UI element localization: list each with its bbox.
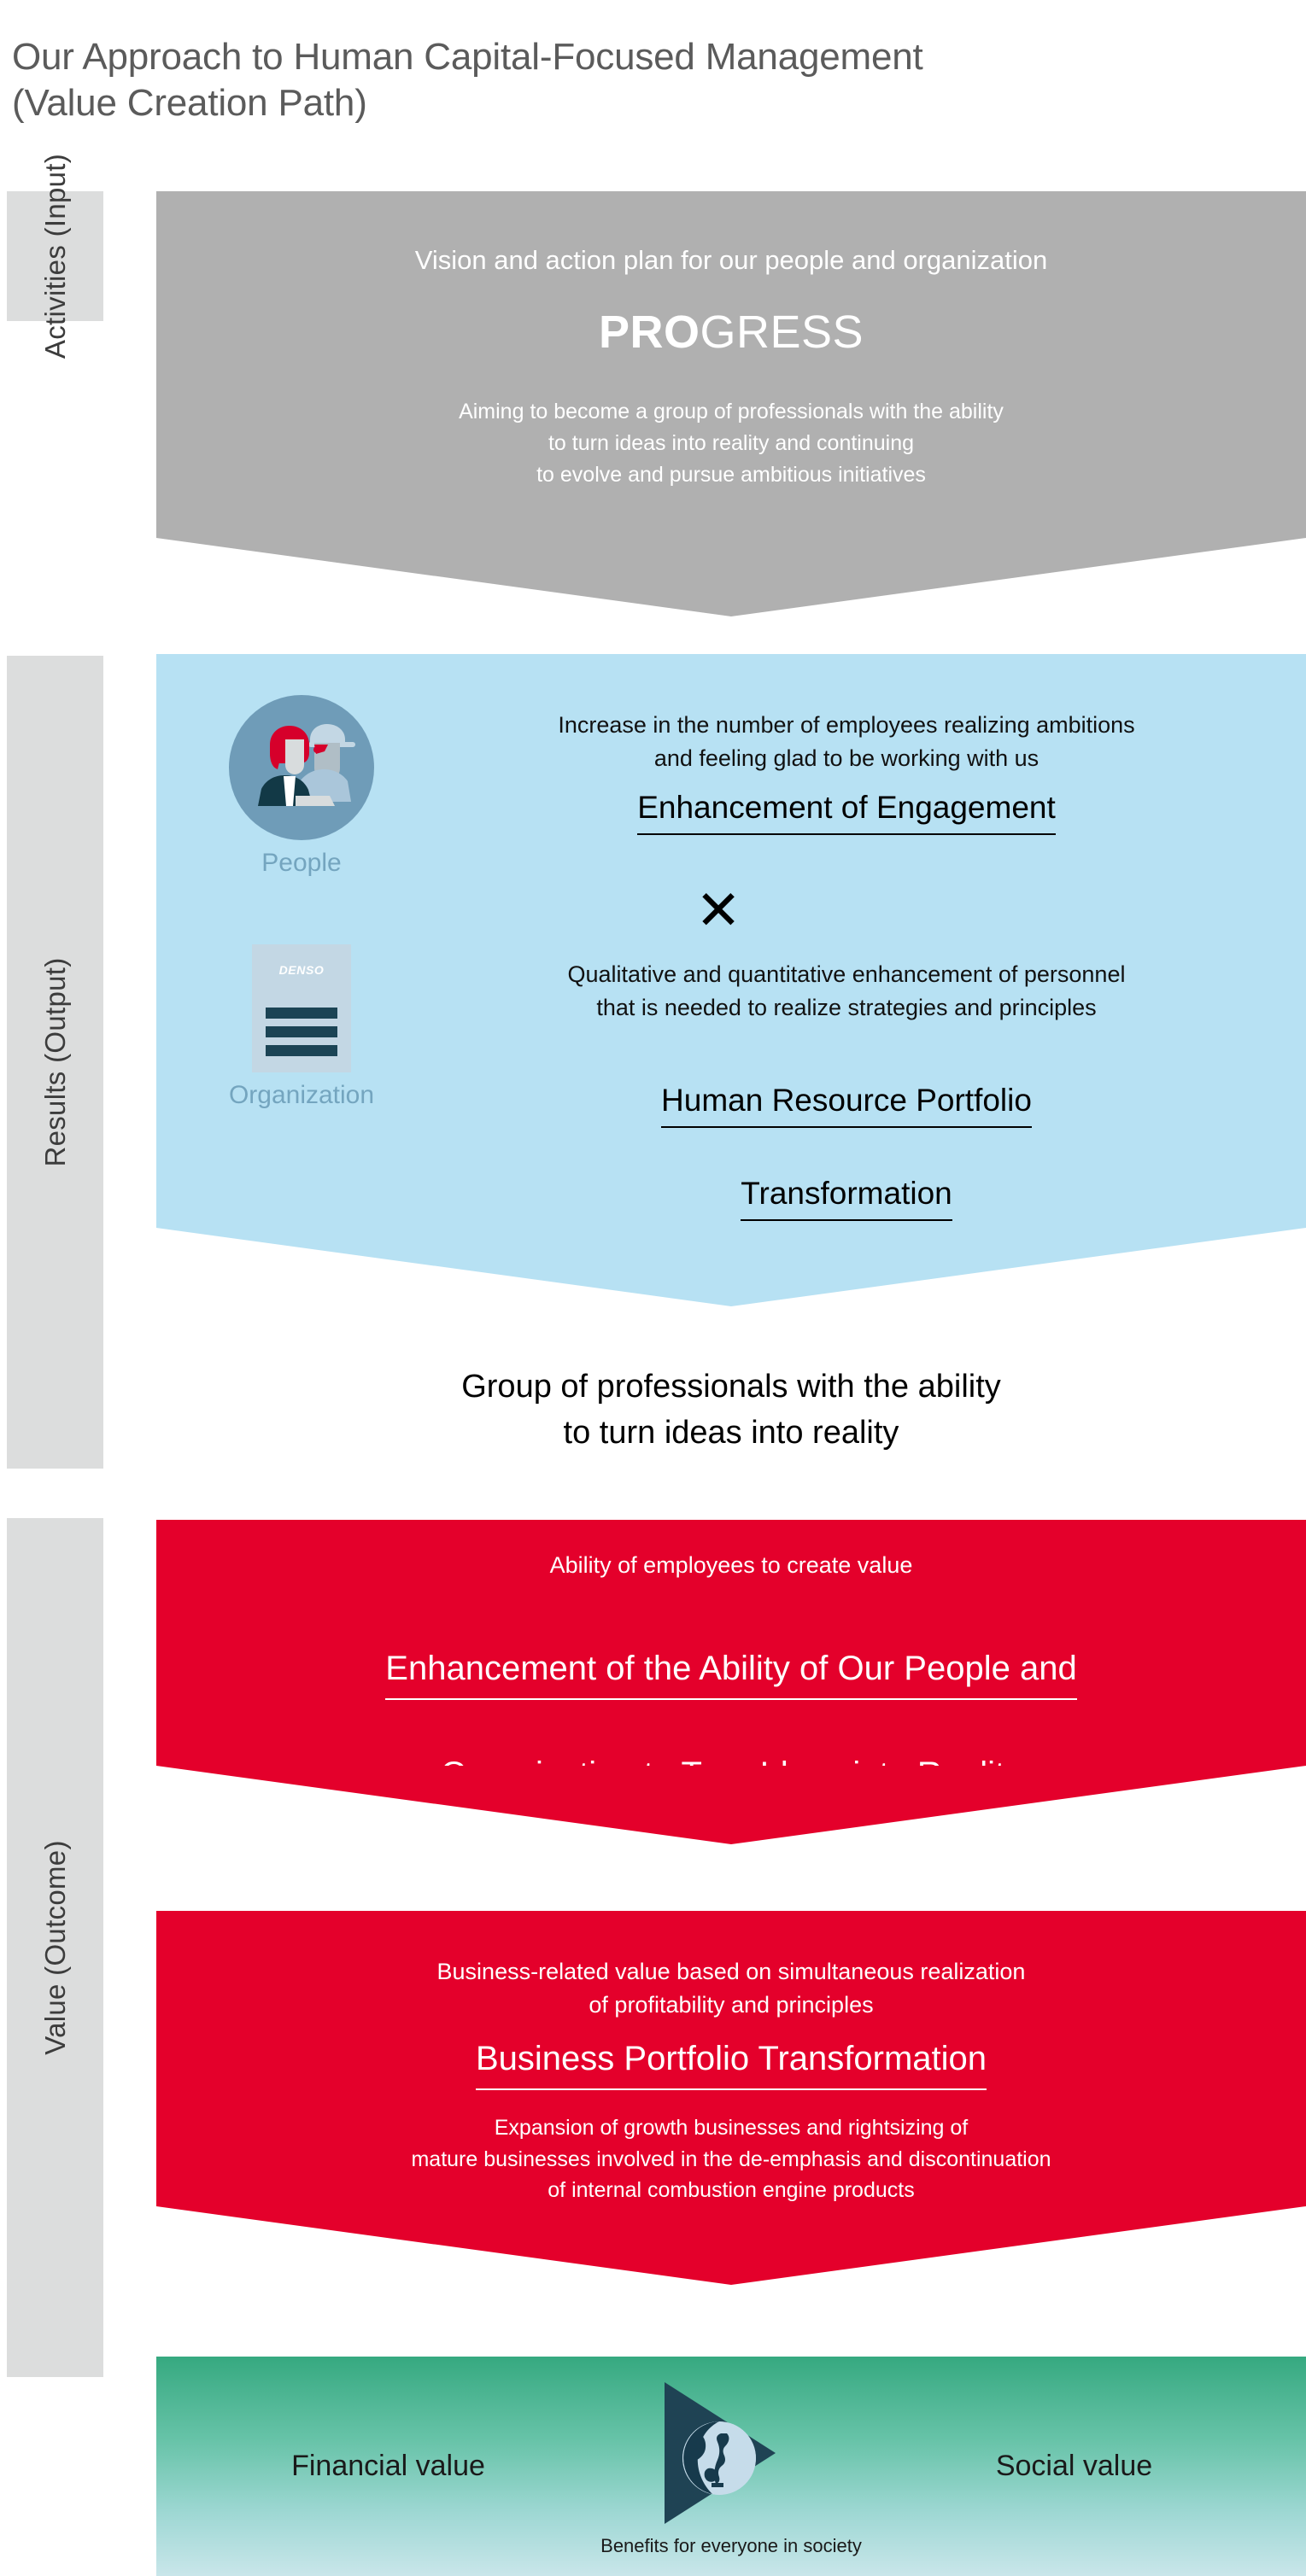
people-headline-wrap: Enhancement of Engagement bbox=[387, 786, 1306, 835]
value-creation-path-infographic: Our Approach to Human Capital-Focused Ma… bbox=[0, 0, 1306, 2576]
globe-icon bbox=[682, 2421, 756, 2495]
value1-lead-text: Ability of employees to create value bbox=[156, 1549, 1306, 1582]
footer-caption: Benefits for everyone in society bbox=[156, 2535, 1306, 2557]
rail-label-activities: Activities (Input) bbox=[39, 154, 72, 359]
rail-value-outcome: Value (Outcome) bbox=[7, 1518, 103, 2377]
people-icon-label: People bbox=[216, 849, 387, 878]
social-value-label: Social value bbox=[842, 2450, 1306, 2483]
progress-wordmark-regular: GRESS bbox=[700, 307, 864, 358]
results-organization-text-col: Qualitative and quantitative enhancement… bbox=[387, 939, 1306, 1221]
organization-headline-line1: Human Resource Portfolio bbox=[661, 1078, 1032, 1128]
value-banner-1-body: Ability of employees to create value Enh… bbox=[156, 1520, 1306, 1766]
results-organization-icon-col: DENSO Organization bbox=[216, 939, 387, 1110]
people-icon bbox=[229, 695, 374, 840]
value-banner-2-arrow-point bbox=[156, 2206, 1306, 2285]
page-title: Our Approach to Human Capital-Focused Ma… bbox=[12, 34, 1250, 126]
value-banner-2-body: Business-related value based on simultan… bbox=[156, 1911, 1306, 2206]
rail-label-results: Results (Output) bbox=[39, 957, 72, 1166]
rail-results-output: Results (Output) bbox=[7, 656, 103, 1469]
progress-banner-arrow-point bbox=[156, 538, 1306, 616]
people-headline: Enhancement of Engagement bbox=[637, 786, 1056, 835]
results-organization-row: DENSO Organization Qualitative and quant… bbox=[156, 939, 1306, 1221]
organization-icon-label: Organization bbox=[216, 1081, 387, 1110]
building-bar-3 bbox=[266, 1045, 337, 1056]
results-banner: People Increase in the number of employe… bbox=[156, 654, 1306, 1306]
progress-wordmark: PROGRESS bbox=[156, 309, 1306, 355]
value-banner-business-portfolio: Business-related value based on simultan… bbox=[156, 1911, 1306, 2285]
organization-lead-text: Qualitative and quantitative enhancement… bbox=[387, 958, 1306, 1025]
progress-sub-text: Aiming to become a group of professional… bbox=[156, 396, 1306, 491]
value2-sub-text: Expansion of growth businesses and right… bbox=[156, 2112, 1306, 2205]
progress-lead-text: Vision and action plan for our people an… bbox=[156, 242, 1306, 278]
value1-headline-line1: Enhancement of the Ability of Our People… bbox=[385, 1644, 1076, 1700]
value2-headline-wrap: Business Portfolio Transformation bbox=[156, 2034, 1306, 2090]
organization-headline-wrap: Human Resource Portfolio Transformation bbox=[387, 1035, 1306, 1221]
value2-headline: Business Portfolio Transformation bbox=[476, 2034, 987, 2090]
footer-banner: Financial value Social value Benefits fo… bbox=[156, 2357, 1306, 2576]
results-banner-arrow-point bbox=[156, 1228, 1306, 1306]
people-lead-text: Increase in the number of employees real… bbox=[387, 709, 1306, 775]
value-banner-people-ability: Ability of employees to create value Enh… bbox=[156, 1520, 1306, 1844]
results-people-row: People Increase in the number of employe… bbox=[156, 690, 1306, 878]
results-banner-body: People Increase in the number of employe… bbox=[156, 654, 1306, 1228]
progress-banner-body: Vision and action plan for our people an… bbox=[156, 191, 1306, 538]
rail-label-value: Value (Outcome) bbox=[39, 1840, 72, 2054]
building-bar-2 bbox=[266, 1026, 337, 1037]
organization-building-icon: DENSO bbox=[252, 944, 351, 1072]
financial-value-label: Financial value bbox=[156, 2450, 620, 2483]
progress-wordmark-bold: PRO bbox=[599, 307, 700, 358]
progress-banner: Vision and action plan for our people an… bbox=[156, 191, 1306, 616]
cross-multiply-icon: ✕ bbox=[156, 883, 1306, 938]
denso-brand-label: DENSO bbox=[252, 963, 351, 977]
rail-activities-input: Activities (Input) bbox=[7, 191, 103, 321]
results-people-text-col: Increase in the number of employees real… bbox=[387, 690, 1306, 835]
results-people-icon-col: People bbox=[216, 690, 387, 878]
mid-statement-text: Group of professionals with the ability … bbox=[156, 1364, 1306, 1457]
value2-lead-text: Business-related value based on simultan… bbox=[156, 1955, 1306, 2022]
building-bar-1 bbox=[266, 1008, 337, 1019]
organization-headline-line2: Transformation bbox=[741, 1171, 952, 1221]
